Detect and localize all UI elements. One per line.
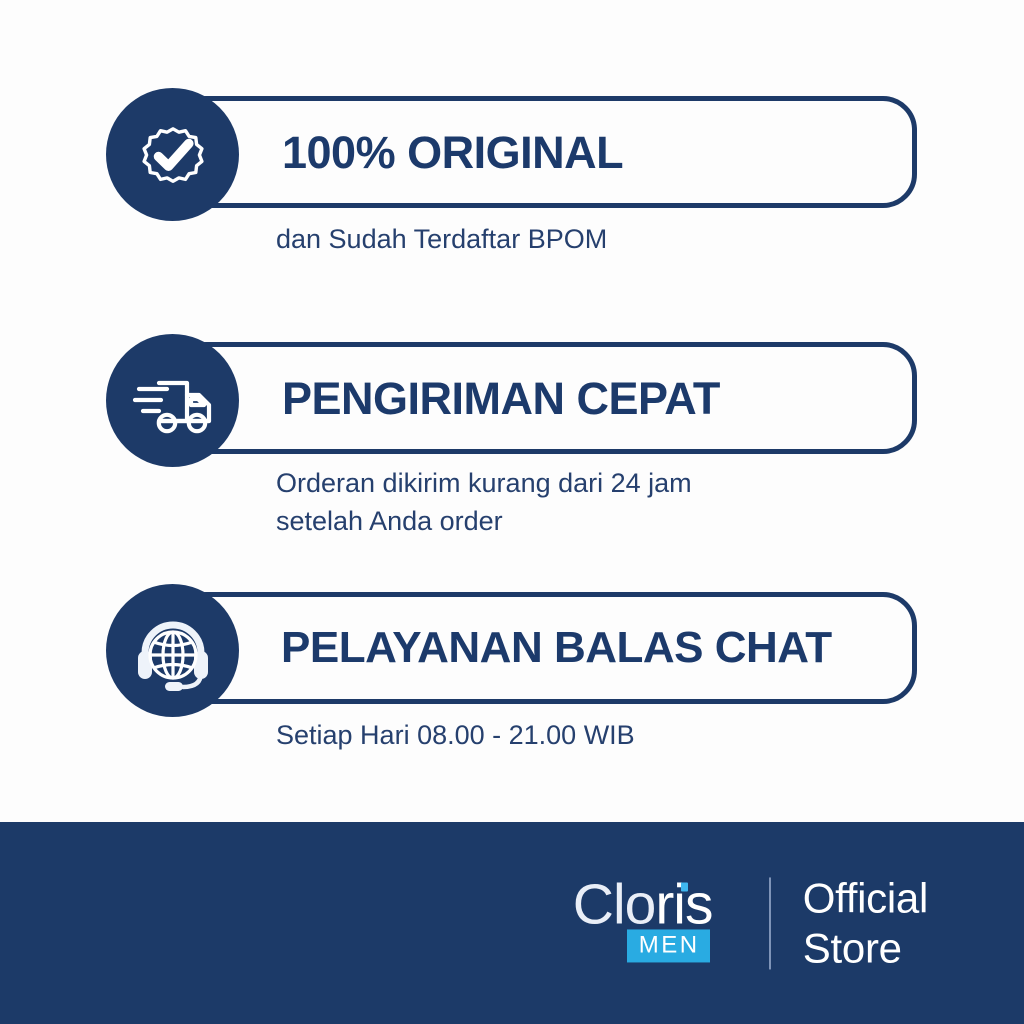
cloris-wordmark-thin: Clo bbox=[573, 872, 656, 936]
headset-globe-icon bbox=[106, 584, 239, 717]
feature-title: PENGIRIMAN CEPAT bbox=[282, 376, 720, 421]
men-badge: MEN bbox=[627, 929, 710, 962]
verified-badge-icon bbox=[106, 88, 239, 221]
brand-divider bbox=[769, 877, 771, 969]
feature-title: PELAYANAN BALAS CHAT bbox=[281, 626, 832, 670]
feature-subtitle: dan Sudah Terdaftar BPOM bbox=[276, 220, 607, 258]
feature-title: 100% ORIGINAL bbox=[282, 130, 623, 175]
feature-pill: PENGIRIMAN CEPAT bbox=[172, 342, 917, 454]
feature-pill: 100% ORIGINAL bbox=[172, 96, 917, 208]
feature-list: 100% ORIGINAL dan Sudah Terdaftar BPOM P… bbox=[0, 0, 1024, 822]
promo-banner: 100% ORIGINAL dan Sudah Terdaftar BPOM P… bbox=[0, 0, 1024, 1024]
cloris-logo: Cloris MEN bbox=[573, 877, 731, 969]
feature-pill: PELAYANAN BALAS CHAT bbox=[172, 592, 917, 704]
brand-footer-band: Cloris MEN Official Store bbox=[0, 822, 1024, 1024]
brand-lockup: Cloris MEN Official Store bbox=[573, 873, 928, 972]
cloris-i-dot-accent bbox=[681, 882, 688, 891]
official-store-label: Official Store bbox=[803, 873, 928, 972]
feature-subtitle: Orderan dikirim kurang dari 24 jam setel… bbox=[276, 464, 692, 541]
delivery-truck-icon bbox=[106, 334, 239, 467]
feature-subtitle: Setiap Hari 08.00 - 21.00 WIB bbox=[276, 716, 635, 754]
cloris-wordmark: Cloris bbox=[573, 877, 713, 935]
